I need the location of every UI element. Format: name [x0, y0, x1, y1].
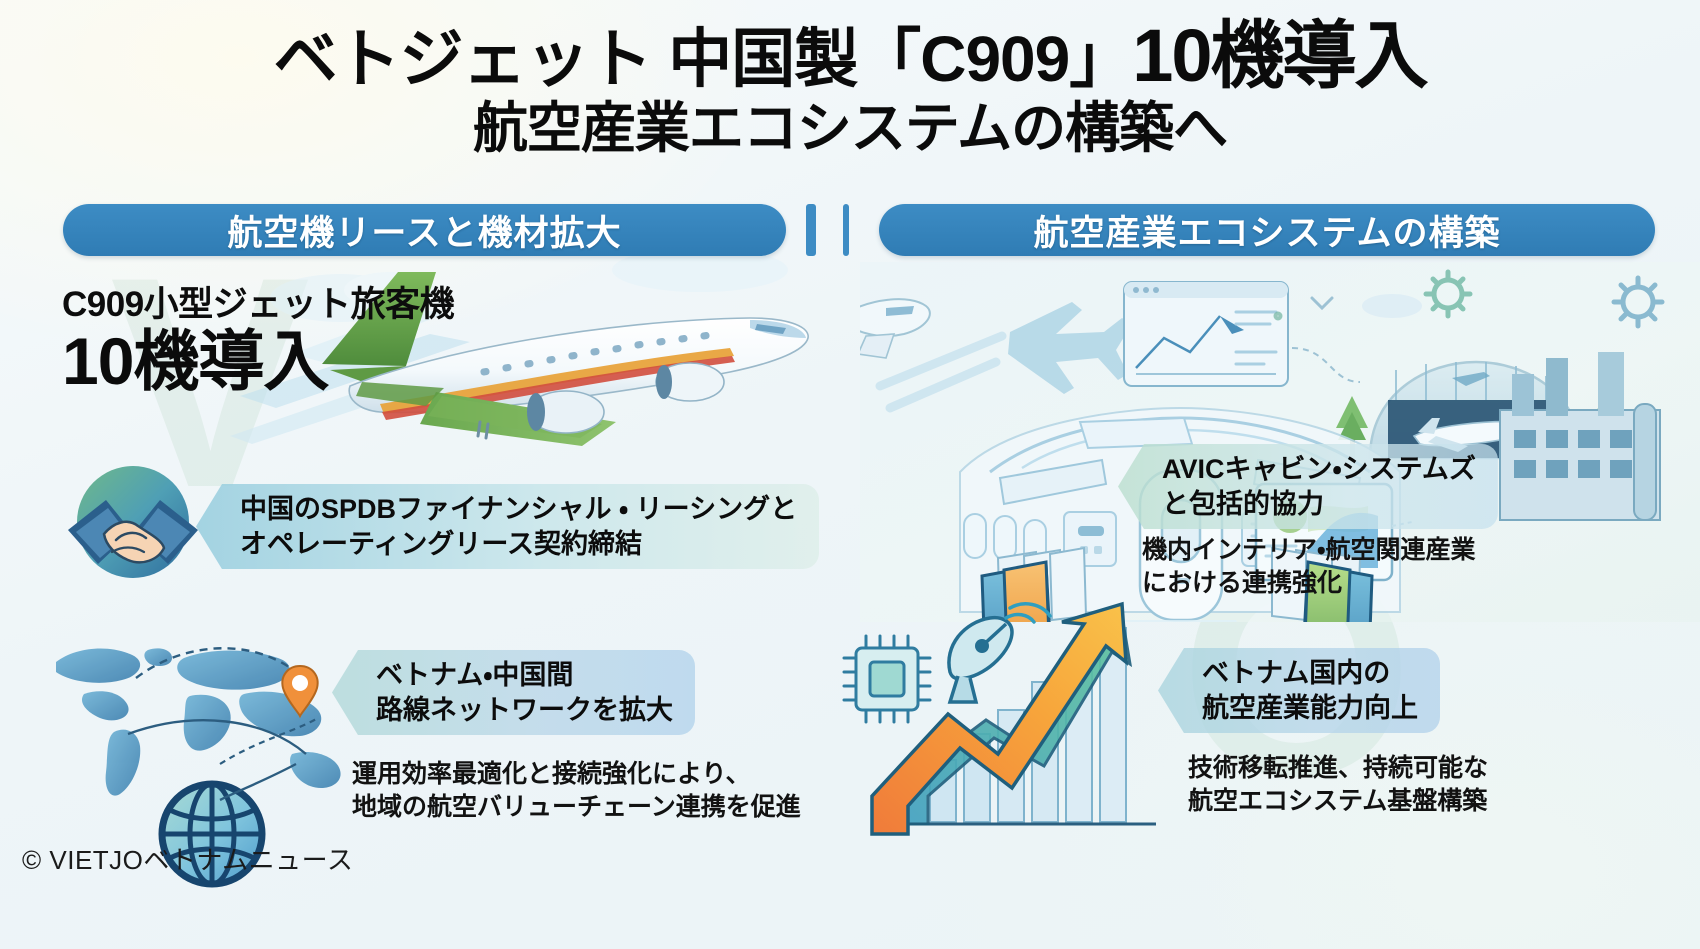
callout-spdb-line-2: オペレーティングリース契約締結: [240, 529, 642, 559]
banner-label-right: 航空産業エコシステムの構築: [1034, 205, 1501, 256]
subcaption-avic-line-2: における連携強化: [1142, 569, 1342, 597]
callout-avic-line-2: と包括的協力: [1162, 489, 1324, 519]
callout-avic-line-1: AVICキャビン・システムズ: [1162, 454, 1476, 484]
subcaption-avic-line-1: 機内インテリア・航空関連産業: [1142, 536, 1476, 564]
subcaption-capability-line-2: 航空エコシステム基盤構築: [1188, 787, 1487, 815]
footer-credit: © VIETJOベトナムニュース: [22, 840, 353, 877]
subcaption-route-line-1: 運用効率最適化と接続強化により、: [352, 760, 751, 788]
infographic-canvas: V O ベトジェット 中国製「C909」10機導入 航空産業エコシステムの構築へ…: [0, 0, 1700, 949]
subcaption-avic: 機内インテリア・航空関連産業 における連携強化: [1142, 534, 1476, 600]
page-title: ベトジェット 中国製「C909」10機導入 航空産業エコシステムの構築へ: [0, 16, 1700, 158]
left-headline-big: 10機導入: [62, 327, 454, 396]
callout-capability-line-2: 航空産業能力向上: [1202, 693, 1418, 723]
handshake-icon: [58, 460, 208, 585]
callout-route-network-text: ベトナム・中国間 路線ネットワークを拡大: [376, 658, 673, 727]
callout-spdb-line-1: 中国のSPDBファイナンシャル ・ リーシングと: [240, 494, 797, 524]
callout-route-line-1: ベトナム・中国間: [376, 660, 573, 690]
callout-route-line-2: 路線ネットワークを拡大: [376, 695, 673, 725]
banner-label-left: 航空機リースと機材拡大: [227, 205, 621, 256]
title-emphasis: 10機導入: [1132, 14, 1426, 97]
callout-avic-text: AVICキャビン・システムズ と包括的協力: [1162, 452, 1476, 521]
section-banner-right: 航空産業エコシステムの構築: [879, 204, 1655, 256]
subcaption-capability: 技術移転推進、持続可能な 航空エコシステム基盤構築: [1188, 752, 1488, 818]
title-prefix: ベトジェット 中国製「C909」: [273, 23, 1132, 95]
column-divider-thick: [806, 204, 816, 256]
callout-capability: ベトナム国内の 航空産業能力向上: [1158, 648, 1440, 733]
callout-capability-text: ベトナム国内の 航空産業能力向上: [1202, 656, 1418, 725]
growth-chart-icon: [836, 600, 1166, 840]
callout-spdb: 中国のSPDBファイナンシャル ・ リーシングと オペレーティングリース契約締結: [196, 484, 819, 569]
title-line-1: ベトジェット 中国製「C909」10機導入: [0, 16, 1700, 96]
callout-spdb-text: 中国のSPDBファイナンシャル ・ リーシングと オペレーティングリース契約締結: [240, 492, 797, 561]
title-line-2: 航空産業エコシステムの構築へ: [0, 98, 1700, 159]
subcaption-route-network: 運用効率最適化と接続強化により、 地域の航空バリューチェーン連携を促進: [352, 758, 801, 824]
left-headline-small: C909小型ジェット旅客機: [62, 286, 454, 325]
callout-route-network: ベトナム・中国間 路線ネットワークを拡大: [332, 650, 695, 735]
column-divider-thin: [843, 204, 849, 256]
callout-capability-line-1: ベトナム国内の: [1202, 658, 1390, 688]
subcaption-route-line-2: 地域の航空バリューチェーン連携を促進: [352, 793, 801, 821]
subcaption-capability-line-1: 技術移転推進、持続可能な: [1188, 754, 1488, 782]
section-banner-left: 航空機リースと機材拡大: [63, 204, 786, 256]
left-headline: C909小型ジェット旅客機 10機導入: [62, 286, 454, 396]
callout-avic: AVICキャビン・システムズ と包括的協力: [1118, 444, 1498, 529]
